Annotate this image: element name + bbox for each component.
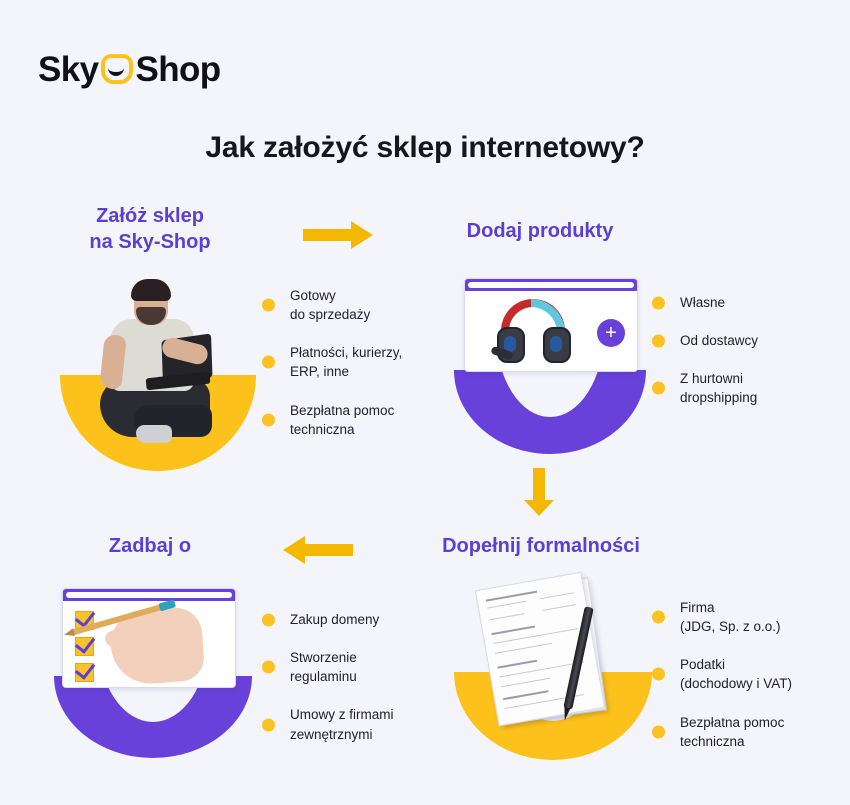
bullet-dot-icon [262, 613, 275, 626]
step-heading-zaloz-sklep: Załóż sklep na Sky-Shop [30, 203, 270, 255]
list-item-label: Bezpłatna pomoc techniczna [680, 715, 784, 749]
list-item-label: Płatności, kurierzy, ERP, inne [290, 345, 402, 379]
bullet-list-dopelnij-formalnosci: Firma (JDG, Sp. z o.o.) Podatki (dochodo… [652, 598, 832, 770]
list-item-label: Własne [680, 295, 725, 310]
checkbox-checked[interactable] [75, 637, 94, 656]
list-item: Zakup domeny [262, 610, 437, 629]
bullet-dot-icon [652, 668, 665, 681]
list-item-label: Zakup domeny [290, 612, 379, 627]
illustration-browser-with-headphones: + [452, 272, 648, 462]
browser-url-bar[interactable] [66, 592, 232, 598]
list-item: Własne [652, 293, 827, 312]
check-icon [75, 632, 96, 654]
list-item: Z hurtowni dropshipping [652, 369, 827, 407]
list-item: Bezpłatna pomoc techniczna [262, 401, 432, 439]
step-heading-dopelnij-formalnosci: Dopełnij formalności [410, 533, 672, 559]
browser-content: + [465, 291, 637, 371]
arrow-right-icon [303, 219, 373, 251]
browser-window-checklist [62, 588, 236, 688]
bullet-list-dodaj-produkty: Własne Od dostawcy Z hurtowni dropshippi… [652, 293, 827, 427]
list-item: Firma (JDG, Sp. z o.o.) [652, 598, 832, 636]
browser-title-bar [63, 589, 235, 601]
bullet-dot-icon [652, 296, 665, 309]
logo-text-sky: Sky [38, 52, 98, 87]
crescent-shape-purple [454, 370, 646, 454]
step-heading-zadbaj-o: Zadbaj o [40, 533, 260, 559]
step-heading-line2: na Sky-Shop [30, 229, 270, 255]
bullet-dot-icon [652, 334, 665, 347]
check-icon [75, 658, 96, 680]
list-item-label: Podatki (dochodowy i VAT) [680, 657, 792, 691]
infographic-page: Sky Shop Jak założyć sklep internetowy? … [0, 0, 850, 805]
illustration-browser-with-checklist [52, 582, 256, 764]
shopping-bag-smile-icon [101, 54, 133, 84]
list-item-label: Firma (JDG, Sp. z o.o.) [680, 600, 781, 634]
bullet-dot-icon [652, 382, 665, 395]
bullet-dot-icon [262, 413, 275, 426]
logo-text-shop: Shop [135, 52, 220, 87]
list-item: Od dostawcy [652, 331, 827, 350]
list-item: Gotowy do sprzedaży [262, 286, 432, 324]
sky-shop-logo[interactable]: Sky Shop [38, 47, 221, 91]
checkbox-checked[interactable] [75, 663, 94, 682]
list-item-label: Od dostawcy [680, 333, 758, 348]
list-item: Stworzenie regulaminu [262, 648, 437, 686]
list-item: Podatki (dochodowy i VAT) [652, 655, 832, 693]
page-title: Jak założyć sklep internetowy? [0, 131, 850, 165]
bullet-dot-icon [262, 718, 275, 731]
list-item: Umowy z firmami zewnętrznymi [262, 705, 437, 743]
list-item-label: Z hurtowni dropshipping [680, 371, 757, 405]
arrow-down-icon [523, 468, 555, 516]
crescent-shape-purple [54, 676, 252, 758]
step-heading-dodaj-produkty: Dodaj produkty [420, 218, 660, 244]
bullet-dot-icon [652, 611, 665, 624]
browser-window-products: + [464, 278, 638, 372]
browser-content [63, 601, 235, 687]
illustration-man-with-laptop [52, 275, 264, 475]
arrow-left-icon [283, 534, 353, 566]
documents-stack [486, 580, 610, 726]
person-figure [88, 279, 228, 447]
illustration-documents-with-pen [452, 578, 656, 766]
list-item-label: Bezpłatna pomoc techniczna [290, 403, 394, 437]
list-item-label: Gotowy do sprzedaży [290, 288, 370, 322]
list-item: Bezpłatna pomoc techniczna [652, 713, 832, 751]
add-product-button[interactable]: + [597, 319, 625, 347]
headphones-product-image [491, 297, 575, 367]
bullet-dot-icon [262, 299, 275, 312]
bullet-list-zaloz-sklep: Gotowy do sprzedaży Płatności, kurierzy,… [262, 286, 432, 458]
step-heading-line1: Załóż sklep [30, 203, 270, 229]
browser-title-bar [465, 279, 637, 291]
browser-url-bar[interactable] [468, 282, 634, 288]
list-item-label: Umowy z firmami zewnętrznymi [290, 707, 394, 741]
bullet-dot-icon [262, 661, 275, 674]
list-item: Płatności, kurierzy, ERP, inne [262, 343, 432, 381]
bullet-list-zadbaj-o: Zakup domeny Stworzenie regulaminu Umowy… [262, 610, 437, 763]
list-item-label: Stworzenie regulaminu [290, 650, 357, 684]
bullet-dot-icon [262, 356, 275, 369]
bullet-dot-icon [652, 725, 665, 738]
